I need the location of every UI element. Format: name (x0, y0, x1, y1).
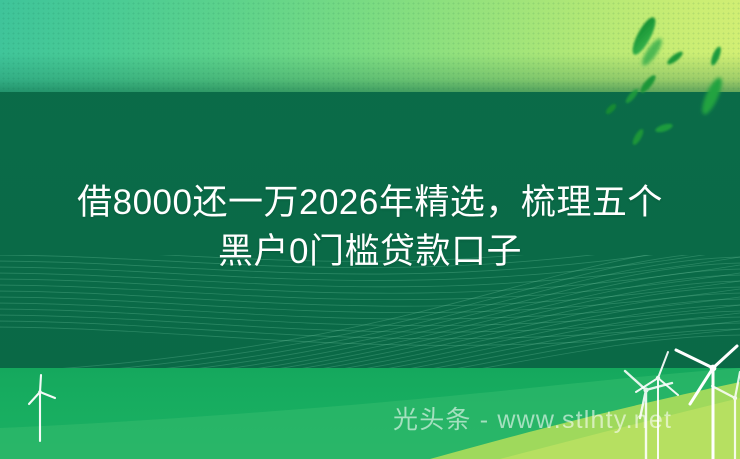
dot-grid-texture-icon (0, 0, 740, 92)
watermark-label: 光头条 - www.stlhty.net (393, 405, 672, 435)
page-title: 借8000还一万2026年精选，梳理五个 黑户0门槛贷款口子 (0, 178, 740, 276)
poster-canvas: 借8000还一万2026年精选，梳理五个 黑户0门槛贷款口子 光头条 - www… (0, 0, 740, 459)
